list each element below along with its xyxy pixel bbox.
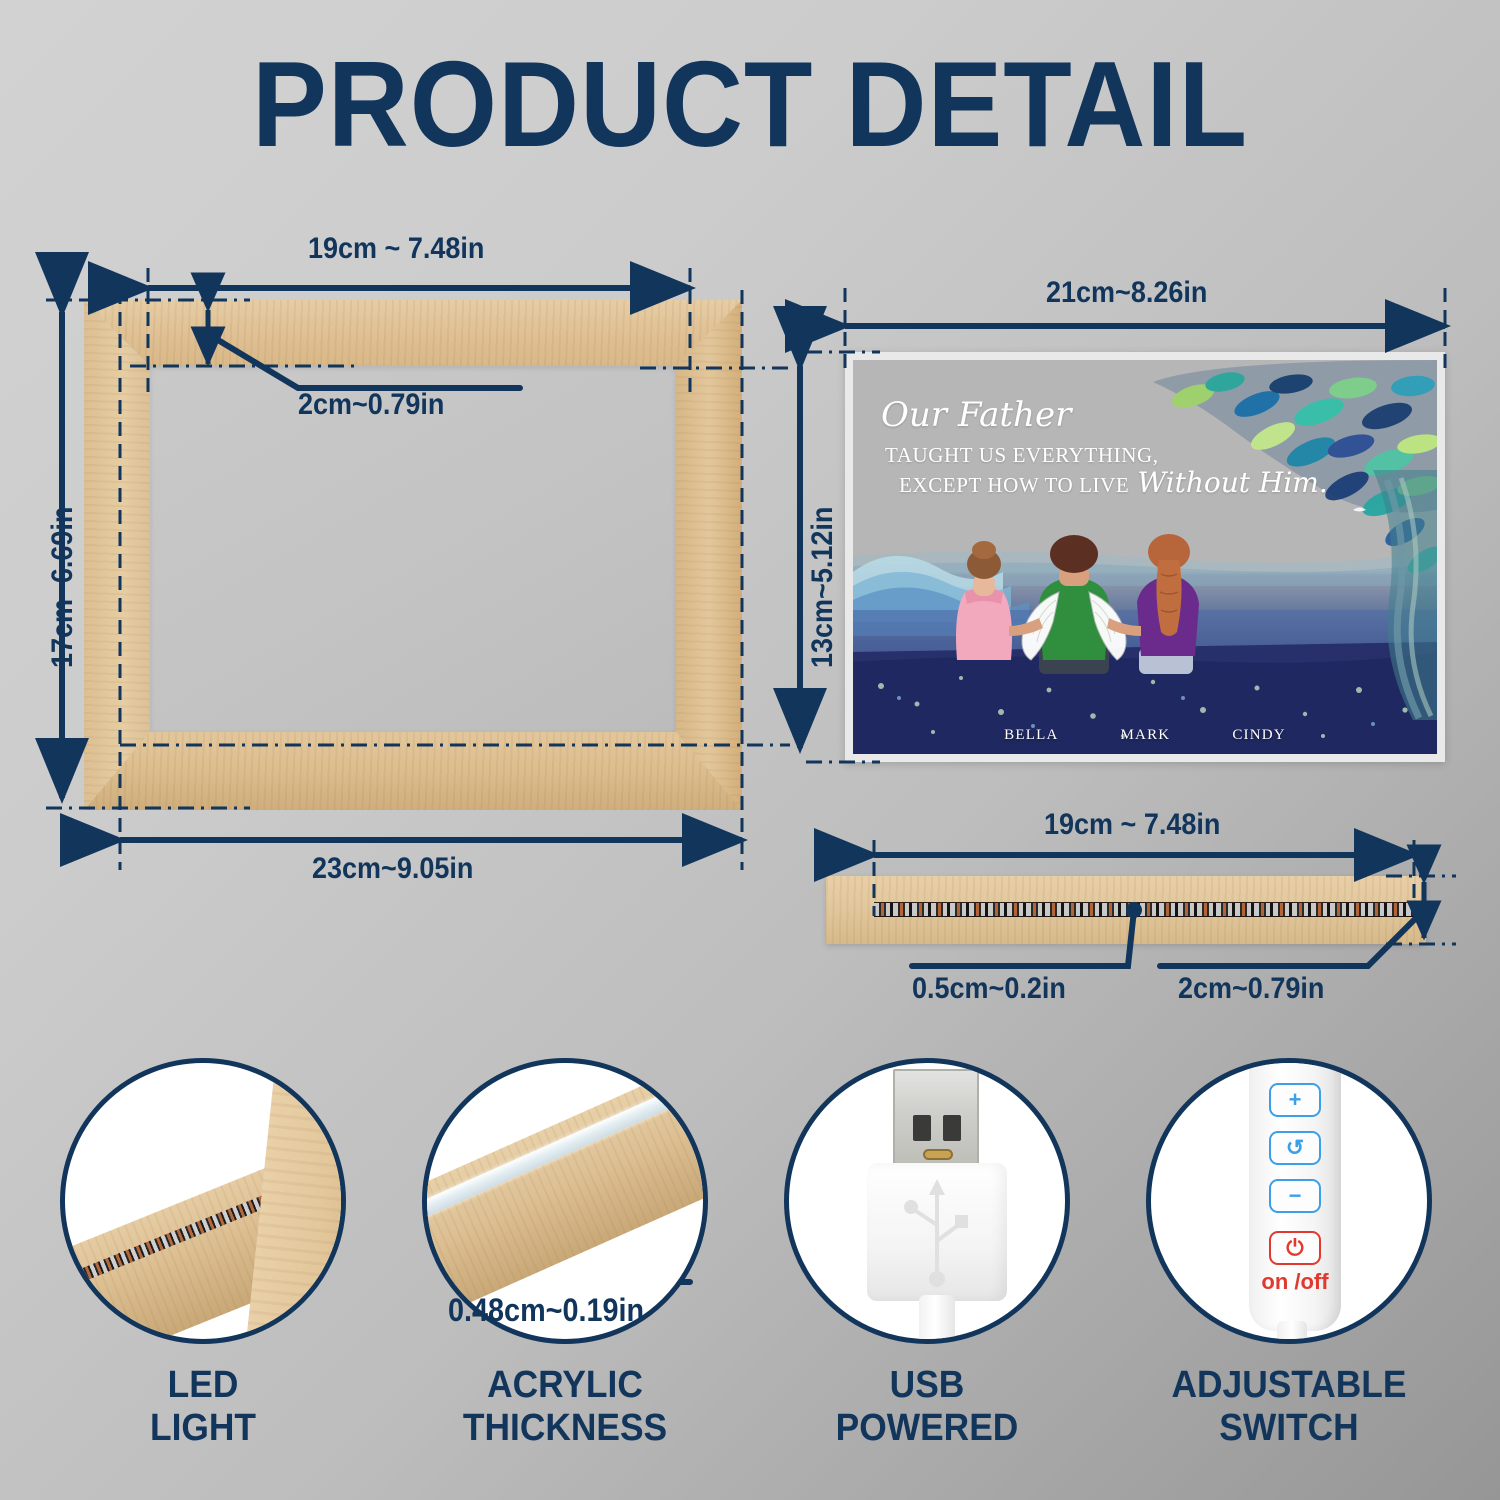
page-title: PRODUCT DETAIL — [60, 34, 1440, 174]
wooden-frame-photo — [84, 300, 742, 810]
dim-frame-border: 2cm~0.79in — [298, 388, 444, 422]
feature-label-line2: SWITCH — [1119, 1407, 1459, 1450]
led-base-bar — [826, 876, 1426, 944]
feature-label-line1: ADJUSTABLE — [1119, 1364, 1459, 1407]
artwork-line-1: Our Father — [881, 398, 1328, 432]
switch-cable-lower — [1277, 1321, 1307, 1344]
dim-acrylic-width: 21cm~8.26in — [1046, 276, 1207, 310]
dim-frame-outer-width: 23cm~9.05in — [312, 852, 473, 886]
dim-frame-height: 17cm~6.69in — [46, 507, 80, 668]
color-cycle-button[interactable]: ↺ — [1269, 1131, 1321, 1165]
led-strip — [874, 903, 1414, 916]
usb-connector-photo — [784, 1058, 1070, 1344]
frame-left-stile — [84, 300, 150, 810]
feature-adjustable-switch: + ↺ − ⏻ on /off ADJUSTABLE SWITCH — [1146, 1058, 1432, 1344]
figure-father-center — [1022, 535, 1126, 674]
usb-cable — [919, 1295, 955, 1344]
led-slot — [874, 902, 1414, 917]
frame-top-rail — [84, 300, 742, 366]
brightness-up-button[interactable]: + — [1269, 1083, 1321, 1117]
artwork-line-3: EXCEPT HOW TO LIVE — [899, 472, 1129, 499]
usb-contact-slot-right — [943, 1115, 961, 1141]
artwork-name-1: BELLA — [1004, 727, 1058, 744]
usb-trident-icon — [867, 1163, 1007, 1301]
feature-label-usb-powered: USB POWERED — [757, 1364, 1097, 1449]
power-button[interactable]: ⏻ — [1269, 1231, 1321, 1265]
feature-usb-powered: USB POWERED — [784, 1058, 1070, 1344]
dim-acrylic-thickness: 0.48cm~0.19in — [448, 1292, 644, 1329]
dim-led-length: 19cm ~ 7.48in — [1044, 808, 1220, 842]
feature-label-line1: USB — [757, 1364, 1097, 1407]
artwork-quote: Our Father TAUGHT US EVERYTHING, EXCEPT … — [881, 398, 1328, 500]
feature-label-line2: POWERED — [757, 1407, 1097, 1450]
artwork-line-2: TAUGHT US EVERYTHING, — [885, 442, 1328, 469]
adjustable-switch-photo: + ↺ − ⏻ on /off — [1146, 1058, 1432, 1344]
artwork-name-3: CINDY — [1232, 727, 1286, 744]
feature-led-light: LED LIGHT — [60, 1058, 346, 1344]
frame-right-stile — [676, 300, 742, 810]
artwork-name-2: MARK — [1121, 727, 1171, 744]
feature-label-line1: ACRYLIC — [395, 1364, 735, 1407]
artwork-name-labels: BELLA MARK CINDY — [853, 727, 1437, 744]
dim-led-slot-width: 0.5cm~0.2in — [912, 972, 1066, 1006]
dim-acrylic-height: 13cm~5.12in — [806, 507, 840, 668]
feature-label-adjustable-switch: ADJUSTABLE SWITCH — [1119, 1364, 1459, 1449]
usb-contact-pin — [923, 1149, 953, 1160]
usb-contact-slot-left — [913, 1115, 931, 1141]
on-off-label: on /off — [1249, 1269, 1341, 1295]
feature-label-led-light: LED LIGHT — [33, 1364, 373, 1449]
feature-label-line2: LIGHT — [33, 1407, 373, 1450]
dim-frame-inner-width: 19cm ~ 7.48in — [308, 232, 484, 266]
figure-child-left — [956, 541, 1012, 660]
acrylic-artwork: Our Father TAUGHT US EVERYTHING, EXCEPT … — [853, 360, 1437, 754]
frame-bottom-rail — [84, 732, 742, 810]
usb-plastic-housing — [867, 1163, 1007, 1301]
feature-label-line1: LED — [33, 1364, 373, 1407]
acrylic-panel: Our Father TAUGHT US EVERYTHING, EXCEPT … — [845, 352, 1445, 762]
usb-metal-shell — [893, 1069, 979, 1171]
feature-label-line2: THICKNESS — [395, 1407, 735, 1450]
figure-woman-right — [1137, 534, 1199, 674]
led-light-photo — [60, 1058, 346, 1344]
brightness-down-button[interactable]: − — [1269, 1179, 1321, 1213]
feature-label-acrylic-thickness: ACRYLIC THICKNESS — [395, 1364, 735, 1449]
closeup-frame-stile — [246, 1058, 346, 1344]
dim-led-base-thickness: 2cm~0.79in — [1178, 972, 1324, 1006]
artwork-line-4: Without Him. — [1137, 469, 1327, 497]
